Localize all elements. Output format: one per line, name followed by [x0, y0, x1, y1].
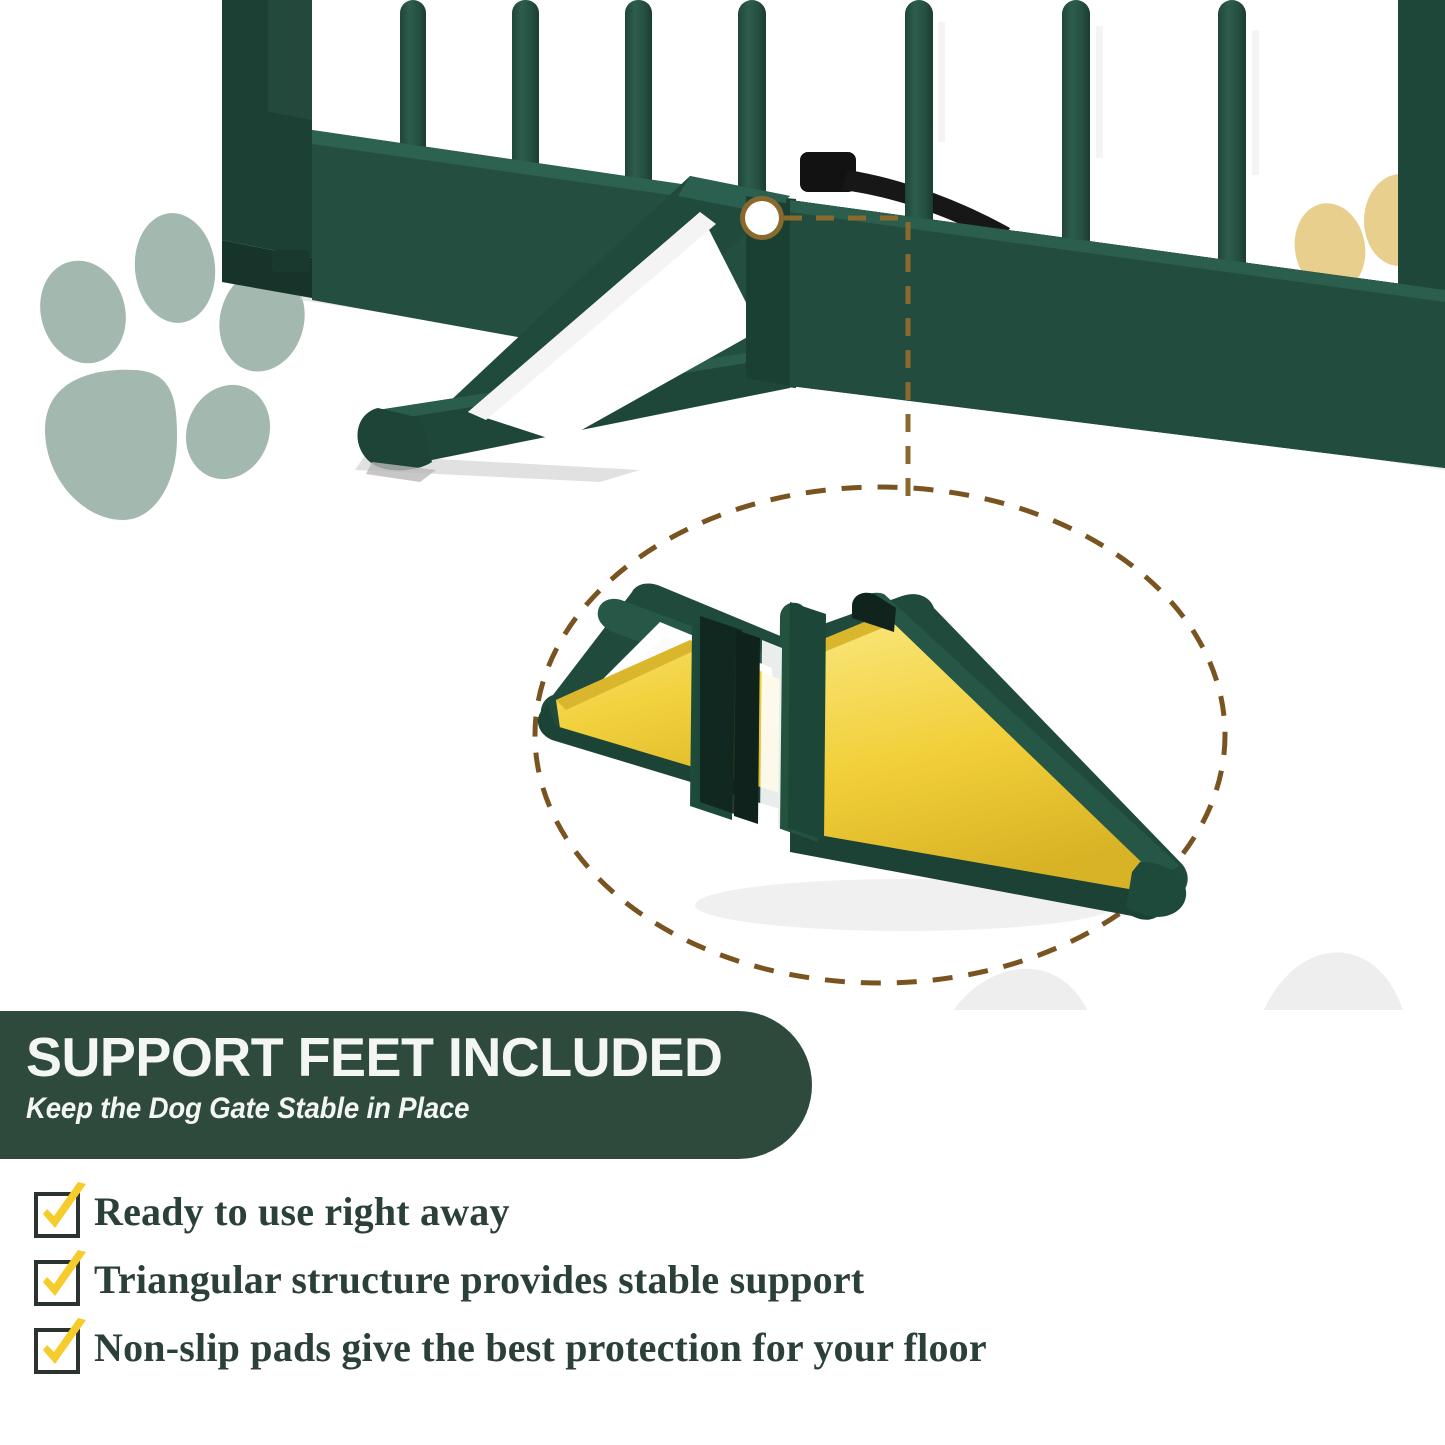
gate-left-post: [222, 0, 312, 298]
gate-bar-highlights: [938, 22, 1259, 175]
support-foot-detail-right-wing: [778, 593, 1188, 920]
feature-list: Ready to use right away Triangular struc…: [34, 1178, 1364, 1382]
banner-title: SUPPORT FEET INCLUDED: [26, 1027, 796, 1087]
checkbox-checked-icon: [34, 1326, 78, 1370]
detail-point-marker: [740, 196, 784, 240]
feature-item-3: Non-slip pads give the best protection f…: [34, 1314, 1364, 1382]
feature-label: Ready to use right away: [94, 1190, 510, 1234]
checkbox-checked-icon: [34, 1190, 78, 1234]
paw-print-gray-icon: [807, 942, 1422, 1010]
feature-item-2: Triangular structure provides stable sup…: [34, 1246, 1364, 1314]
infographic-canvas: SUPPORT FEET INCLUDED Keep the Dog Gate …: [0, 0, 1445, 1445]
feature-label: Triangular structure provides stable sup…: [94, 1258, 864, 1302]
product-illustration: [0, 0, 1445, 1010]
banner-subtitle: Keep the Dog Gate Stable in Place: [26, 1089, 749, 1129]
feature-label: Non-slip pads give the best protection f…: [94, 1326, 987, 1370]
checkbox-checked-icon: [34, 1258, 78, 1302]
support-foot-center-gap: [734, 630, 782, 830]
headline-banner: SUPPORT FEET INCLUDED Keep the Dog Gate …: [0, 1011, 812, 1159]
feature-item-1: Ready to use right away: [34, 1178, 1364, 1246]
